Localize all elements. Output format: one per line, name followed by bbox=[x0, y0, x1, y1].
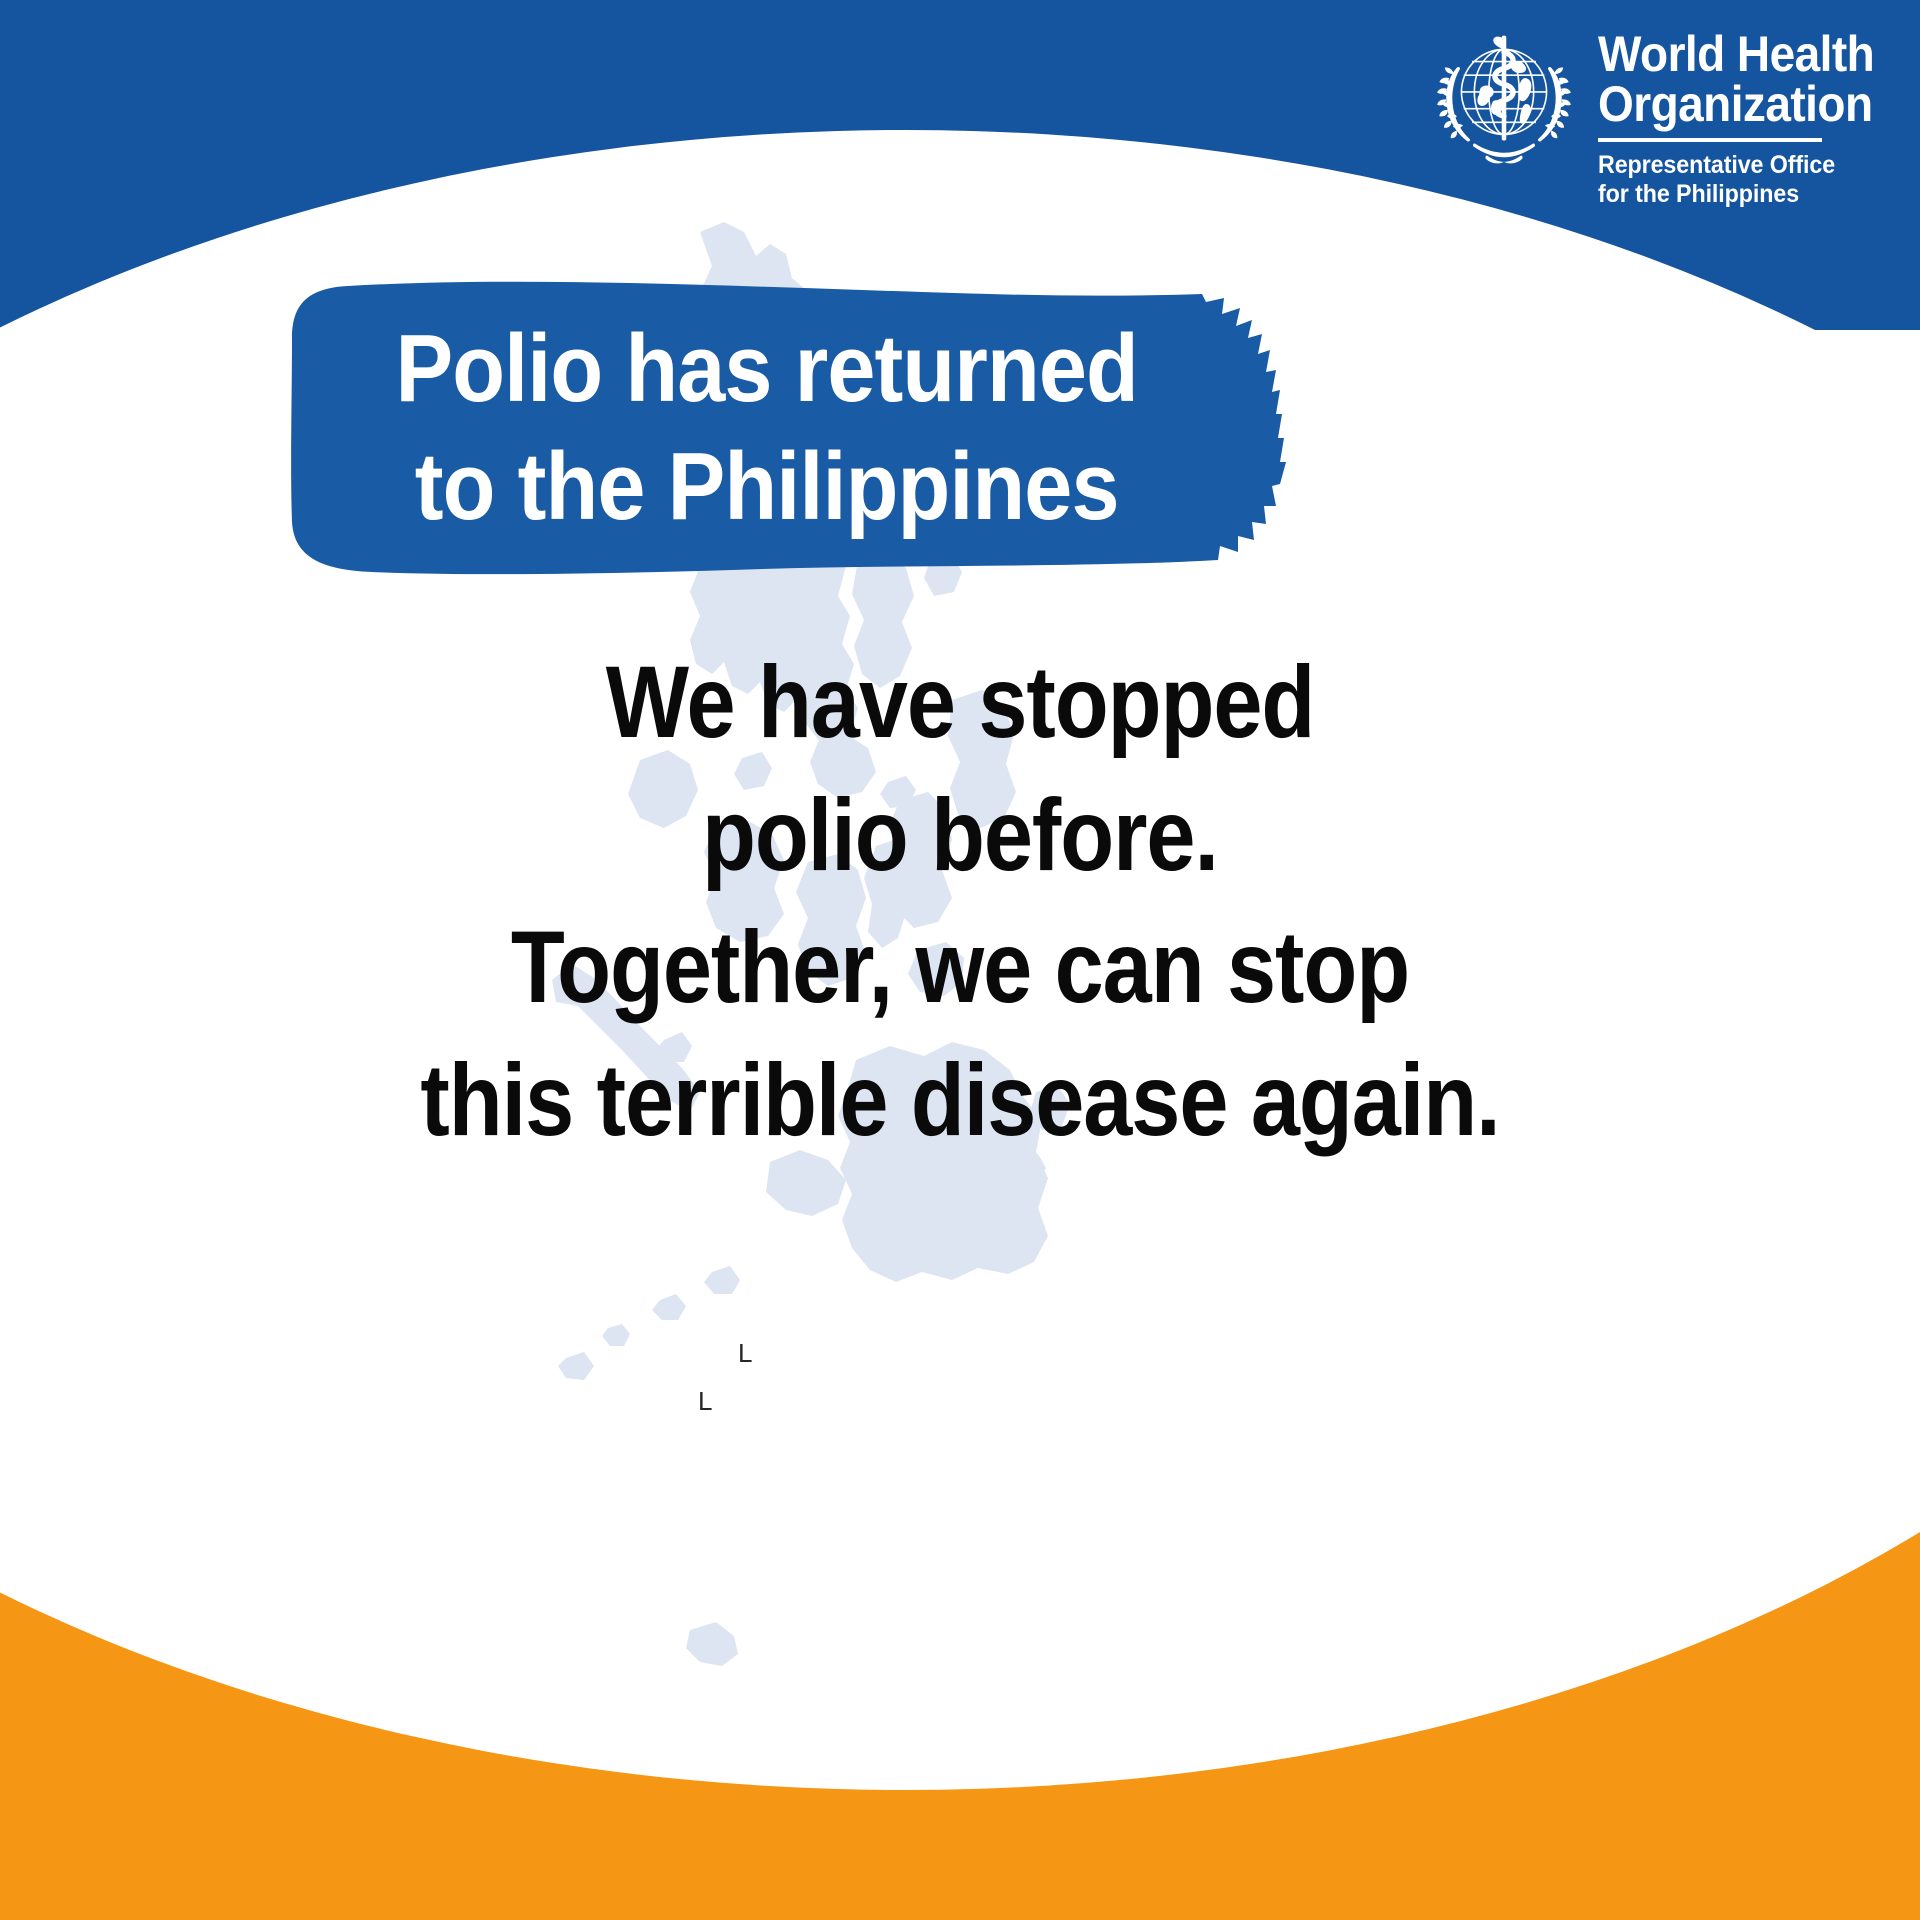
who-office-line-2: for the Philippines bbox=[1598, 180, 1877, 209]
who-name-line-1: World Health bbox=[1598, 30, 1874, 80]
headline-line-1: Polio has returned bbox=[314, 310, 1219, 428]
headline-line-2: to the Philippines bbox=[314, 428, 1219, 546]
map-artifact-mark-2: L bbox=[698, 1388, 712, 1414]
body-line-3: Together, we can stop bbox=[130, 901, 1791, 1034]
body-line-2: polio before. bbox=[130, 769, 1791, 902]
body-message-block: We have stopped polio before. Together, … bbox=[130, 636, 1791, 1166]
map-artifact-mark-1: L bbox=[738, 1340, 752, 1366]
body-line-1: We have stopped bbox=[130, 636, 1791, 769]
body-line-4: this terrible disease again. bbox=[130, 1034, 1791, 1167]
who-wordmark: World Health Organization Representative… bbox=[1598, 22, 1898, 208]
who-emblem-icon bbox=[1428, 22, 1580, 174]
who-office-line-1: Representative Office bbox=[1598, 151, 1877, 180]
who-divider-rule bbox=[1598, 138, 1822, 142]
who-logo-lockup: World Health Organization Representative… bbox=[1428, 22, 1898, 208]
poster-canvas: L L bbox=[0, 0, 1920, 1920]
headline-text-block: Polio has returned to the Philippines bbox=[314, 310, 1250, 546]
who-name-line-2: Organization bbox=[1598, 80, 1874, 130]
headline-banner: Polio has returned to the Philippines bbox=[262, 268, 1302, 590]
